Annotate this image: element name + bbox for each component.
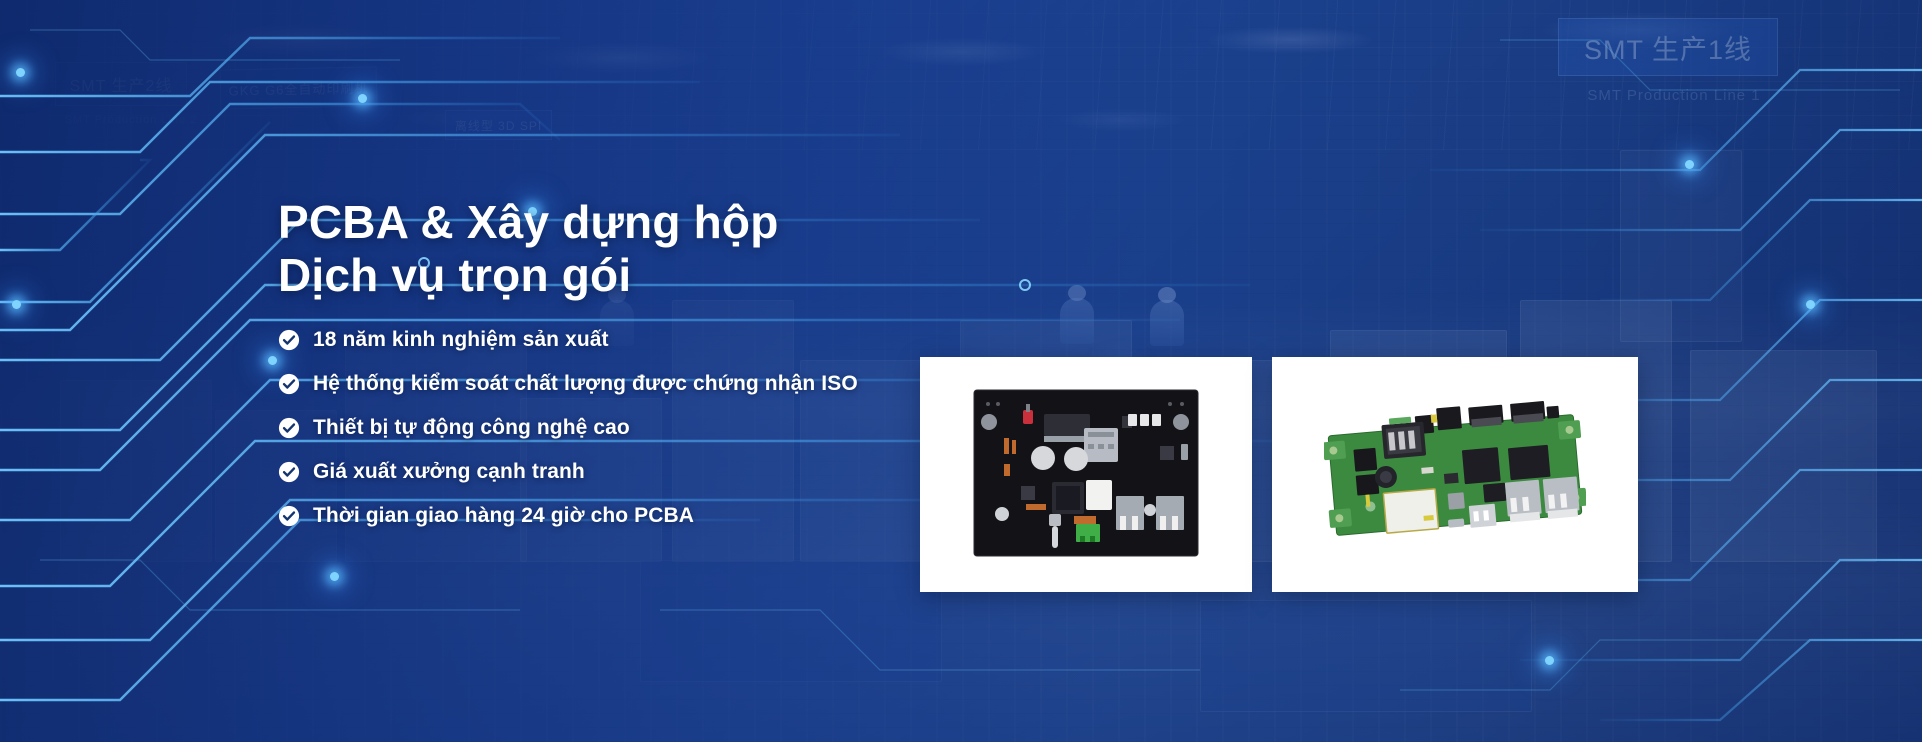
circuit-glow-node (1806, 300, 1815, 309)
green-pcba-board-image (1324, 395, 1586, 555)
circuit-glow-node (12, 300, 21, 309)
product-card-group (920, 357, 1638, 592)
hero-content: PCBA & Xây dựng hộp Dịch vụ trọn gói 18 … (278, 196, 998, 528)
product-card-black-pcba[interactable] (920, 357, 1252, 592)
list-item: Thời gian giao hàng 24 giờ cho PCBA (278, 504, 998, 528)
circuit-glow-node (358, 94, 367, 103)
check-circle-icon (278, 417, 300, 439)
feature-label: Hệ thống kiểm soát chất lượng được chứng… (313, 372, 858, 396)
check-circle-icon (278, 373, 300, 395)
check-circle-icon (278, 461, 300, 483)
list-item: Giá xuất xưởng cạnh tranh (278, 460, 998, 484)
check-circle-icon (278, 505, 300, 527)
circuit-glow-node (330, 572, 339, 581)
feature-label: Thiết bị tự động công nghệ cao (313, 416, 630, 440)
headline-line-1: PCBA & Xây dựng hộp (278, 196, 998, 249)
list-item: 18 năm kinh nghiệm sản xuất (278, 328, 998, 352)
list-item: Thiết bị tự động công nghệ cao (278, 416, 998, 440)
circuit-glow-node (268, 356, 277, 365)
circuit-glow-node (1685, 160, 1694, 169)
feature-label: 18 năm kinh nghiệm sản xuất (313, 328, 609, 352)
headline-line-2: Dịch vụ trọn gói (278, 249, 998, 302)
feature-list: 18 năm kinh nghiệm sản xuất Hệ thống kiể… (278, 328, 998, 528)
black-pcba-board-image (970, 386, 1202, 564)
circuit-glow-node (16, 68, 25, 77)
page-title: PCBA & Xây dựng hộp Dịch vụ trọn gói (278, 196, 998, 302)
list-item: Hệ thống kiểm soát chất lượng được chứng… (278, 372, 998, 396)
feature-label: Giá xuất xưởng cạnh tranh (313, 460, 585, 484)
product-card-green-pcba[interactable] (1272, 357, 1638, 592)
hero-banner: SMT 生产2线 SMT Production Line 2 GKG G6全自动… (0, 0, 1922, 742)
circuit-glow-node (1545, 656, 1554, 665)
check-circle-icon (278, 329, 300, 351)
feature-label: Thời gian giao hàng 24 giờ cho PCBA (313, 504, 694, 528)
